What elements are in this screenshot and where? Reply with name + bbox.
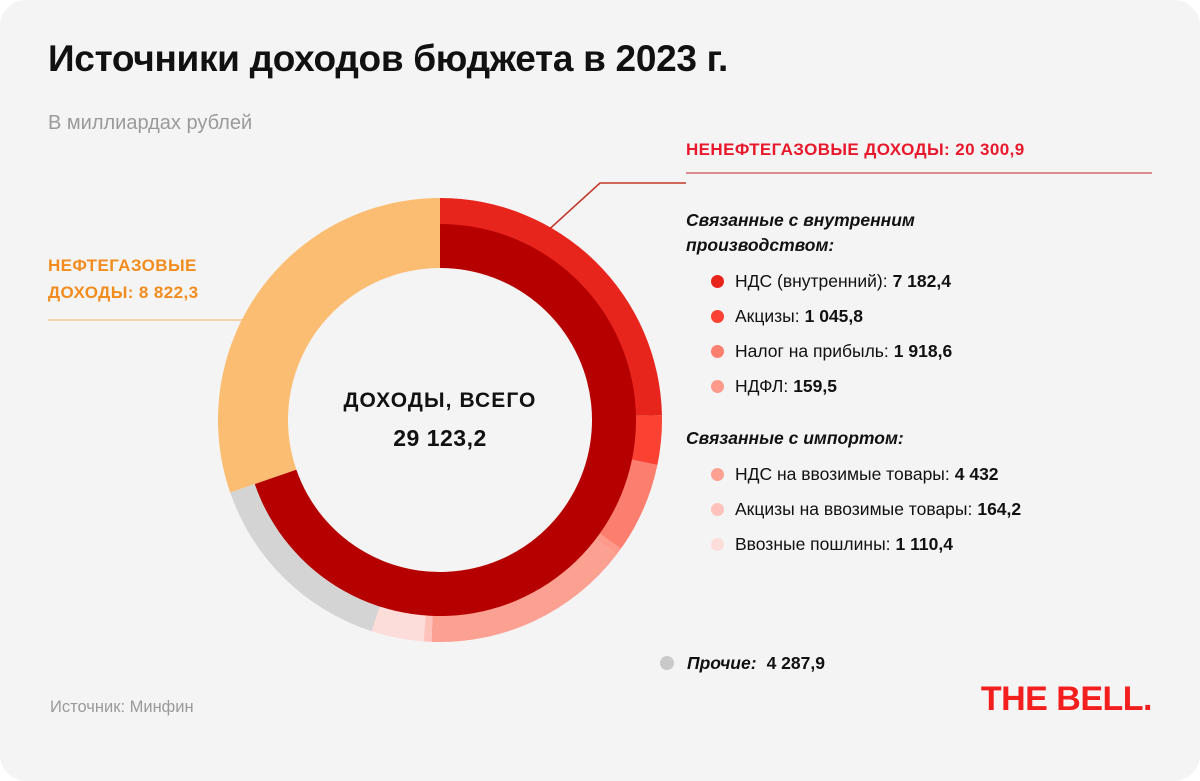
legend-item-value: 1 045,8 bbox=[805, 306, 863, 327]
legend-item-value: 4 432 bbox=[955, 464, 999, 485]
source-note: Источник: Минфин bbox=[50, 698, 194, 717]
page-title: Источники доходов бюджета в 2023 г. bbox=[48, 38, 728, 80]
legend-list-domestic: НДС (внутренний):7 182,4Акцизы:1 045,8На… bbox=[686, 264, 1166, 404]
legend-item-value: 1 110,4 bbox=[896, 534, 953, 555]
legend-bullet-icon bbox=[711, 468, 724, 481]
legend-item-value: 7 182,4 bbox=[893, 271, 951, 292]
legend-item-label: НДФЛ: bbox=[735, 376, 788, 397]
legend-item: Ввозные пошлины:1 110,4 bbox=[686, 527, 1166, 562]
legend-item-value: 1 918,6 bbox=[894, 341, 952, 362]
legend-item: НДФЛ:159,5 bbox=[686, 369, 1166, 404]
legend-item-label: Акцизы на ввозимые товары: bbox=[735, 499, 972, 520]
legend-item-label: НДС (внутренний): bbox=[735, 271, 888, 292]
donut-inner-ring bbox=[244, 224, 636, 616]
legend-bullet-icon bbox=[711, 503, 724, 516]
legend-item-label: Налог на прибыль: bbox=[735, 341, 889, 362]
legend-bullet-icon bbox=[711, 538, 724, 551]
donut-segment bbox=[244, 224, 440, 484]
legend-item-label: НДС на ввозимые товары: bbox=[735, 464, 950, 485]
non-oil-gas-header-label: НЕНЕФТЕГАЗОВЫЕ ДОХОДЫ: 20 300,9 bbox=[686, 140, 1152, 160]
non-oil-gas-header-rule bbox=[686, 172, 1152, 174]
legend-item: Акцизы на ввозимые товары:164,2 bbox=[686, 492, 1166, 527]
legend-item-label: Акцизы: bbox=[735, 306, 800, 327]
non-oil-gas-header: НЕНЕФТЕГАЗОВЫЕ ДОХОДЫ: 20 300,9 bbox=[686, 140, 1152, 174]
legend-item-label: Ввозные пошлины: bbox=[735, 534, 891, 555]
legend-group-title-domestic: Связанные с внутренним производством: bbox=[686, 208, 1166, 258]
infographic-card: Источники доходов бюджета в 2023 г. В ми… bbox=[0, 0, 1200, 781]
legend-list-import: НДС на ввозимые товары:4 432Акцизы на вв… bbox=[686, 457, 1166, 562]
legend-bullet-other-icon bbox=[660, 656, 674, 670]
legend-item: Налог на прибыль:1 918,6 bbox=[686, 334, 1166, 369]
legend-item-value: 164,2 bbox=[977, 499, 1021, 520]
legend-item: НДС на ввозимые товары:4 432 bbox=[686, 457, 1166, 492]
legend-group-title-import: Связанные с импортом: bbox=[686, 426, 1166, 451]
donut-chart: ДОХОДЫ, ВСЕГО 29 123,2 bbox=[196, 176, 684, 664]
donut-svg bbox=[196, 176, 684, 664]
legend-bullet-icon bbox=[711, 345, 724, 358]
legend: Связанные с внутренним производством: НД… bbox=[686, 208, 1166, 562]
legend-item-other-label: Прочие: bbox=[687, 653, 757, 674]
legend-item-other-value: 4 287,9 bbox=[767, 653, 825, 674]
legend-group-title-domestic-l1: Связанные с внутренним bbox=[686, 210, 915, 230]
legend-item: Акцизы:1 045,8 bbox=[686, 299, 1166, 334]
legend-bullet-icon bbox=[711, 380, 724, 393]
legend-bullet-icon bbox=[711, 275, 724, 288]
legend-bullet-icon bbox=[711, 310, 724, 323]
legend-group-title-domestic-l2: производством: bbox=[686, 235, 834, 255]
legend-item-other: Прочие: 4 287,9 bbox=[660, 646, 825, 680]
legend-item: НДС (внутренний):7 182,4 bbox=[686, 264, 1166, 299]
page-subtitle: В миллиардах рублей bbox=[48, 112, 252, 135]
legend-item-value: 159,5 bbox=[793, 376, 837, 397]
brand-logo: THE BELL. bbox=[981, 680, 1152, 719]
